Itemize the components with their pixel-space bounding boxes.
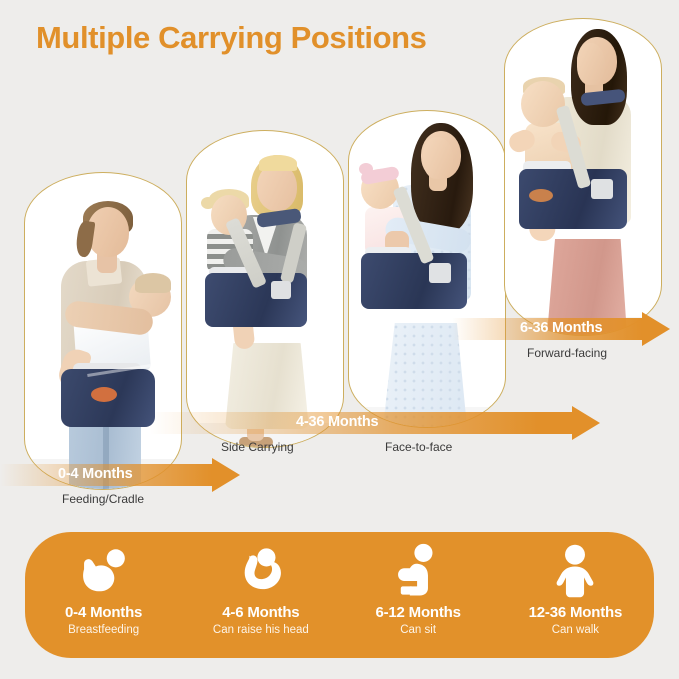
baby-raising-head-icon	[232, 542, 290, 600]
photo-card-forward-facing[interactable]	[504, 18, 662, 336]
arrow-label-0-4-months: 0-4 Months	[58, 466, 133, 482]
photo-mother-face-to-face-baby	[349, 111, 505, 427]
arrow-label-6-36-months: 6-36 Months	[520, 320, 602, 336]
arrow-label-4-36-months: 4-36 Months	[296, 414, 378, 430]
milestone-item-can-sit[interactable]: 6-12 Months Can sit	[340, 532, 497, 658]
arrow-4-36-months: 4-36 Months	[150, 406, 600, 440]
photo-mother-side-carrying-toddler	[187, 131, 343, 447]
milestone-title: 6-12 Months	[375, 604, 460, 621]
milestone-title: 4-6 Months	[222, 604, 299, 621]
caption-forward-facing: Forward-facing	[527, 346, 607, 360]
photo-mother-forward-facing-baby	[505, 19, 661, 335]
milestone-title: 12-36 Months	[529, 604, 622, 621]
photo-mother-cradling-baby	[25, 173, 181, 489]
baby-standing-icon	[546, 542, 604, 600]
page-title: Multiple Carrying Positions	[36, 20, 427, 56]
milestone-subtitle: Breastfeeding	[68, 624, 139, 636]
milestone-item-can-walk[interactable]: 12-36 Months Can walk	[497, 532, 654, 658]
photo-card-feeding-cradle[interactable]	[24, 172, 182, 490]
photo-card-side-carrying[interactable]	[186, 130, 344, 448]
milestone-item-breastfeeding[interactable]: 0-4 Months Breastfeeding	[25, 532, 182, 658]
arrow-head-icon	[572, 406, 600, 440]
milestone-title: 0-4 Months	[65, 604, 142, 621]
baby-sitting-icon	[389, 542, 447, 600]
baby-breastfeeding-icon	[75, 542, 133, 600]
caption-face-to-face: Face-to-face	[385, 440, 452, 454]
milestone-subtitle: Can walk	[552, 624, 599, 636]
milestones-panel: 0-4 Months Breastfeeding 4-6 Months Can …	[25, 532, 654, 658]
caption-feeding-cradle: Feeding/Cradle	[62, 492, 144, 506]
milestone-item-raise-head[interactable]: 4-6 Months Can raise his head	[182, 532, 339, 658]
arrow-0-4-months: 0-4 Months	[0, 458, 240, 492]
arrow-head-icon	[642, 312, 670, 346]
milestone-subtitle: Can sit	[400, 624, 436, 636]
photo-card-face-to-face[interactable]	[348, 110, 506, 428]
arrow-head-icon	[212, 458, 240, 492]
milestone-subtitle: Can raise his head	[213, 624, 309, 636]
arrow-6-36-months: 6-36 Months	[452, 312, 670, 346]
caption-side-carrying: Side Carrying	[221, 440, 294, 454]
